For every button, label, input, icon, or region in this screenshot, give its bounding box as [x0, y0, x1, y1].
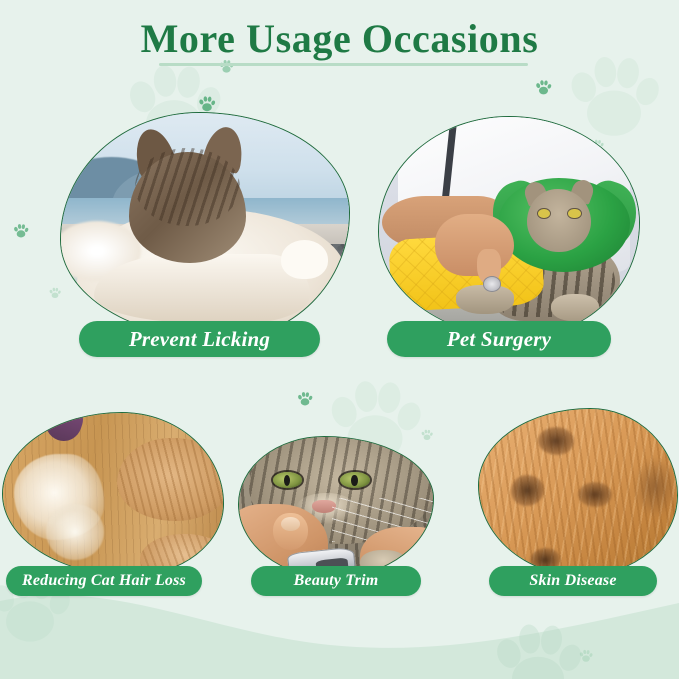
vet-hand — [435, 214, 514, 277]
skin-lesion-1 — [538, 427, 574, 454]
caption-label: Reducing Cat Hair Loss — [22, 572, 186, 590]
skin-lesion-3 — [578, 482, 612, 508]
card-skin-disease[interactable] — [478, 408, 678, 576]
paw-print-icon — [486, 612, 590, 679]
card-prevent-licking[interactable] — [60, 112, 350, 340]
caption-reducing-cat-hair-loss[interactable]: Reducing Cat Hair Loss — [6, 566, 202, 596]
cat-eye-right — [568, 209, 580, 218]
caption-skin-disease[interactable]: Skin Disease — [489, 566, 657, 596]
page-header: More Usage Occasions — [0, 16, 679, 68]
caption-label: Beauty Trim — [294, 572, 379, 590]
card-pet-surgery[interactable] — [378, 116, 640, 338]
photo-shed-cat-hair-on-wood-floor — [2, 412, 224, 576]
cat-head — [527, 189, 590, 252]
photo-cat-licking-on-beach — [60, 112, 350, 340]
skin-lesion-2 — [511, 475, 543, 506]
photo-trimming-cat-claws — [238, 436, 434, 578]
card-beauty-trim[interactable] — [238, 436, 434, 578]
cat-legs — [94, 254, 310, 323]
cat-paw — [281, 240, 328, 279]
paw-print-icon — [578, 648, 594, 664]
caption-beauty-trim[interactable]: Beauty Trim — [251, 566, 421, 596]
caption-label: Pet Surgery — [447, 327, 551, 352]
cat-pupil-right — [351, 475, 357, 487]
photo-vet-examining-cat-in-recovery-collar — [378, 116, 640, 338]
caption-label: Prevent Licking — [129, 327, 270, 352]
ginger-cat-body — [117, 438, 224, 521]
cat-tabby-stripes — [135, 148, 240, 226]
card-reducing-cat-hair-loss[interactable] — [2, 412, 224, 576]
title-underline — [159, 63, 529, 66]
photo-ginger-cat-skin-lesions — [478, 408, 678, 576]
shed-hair-clump-2 — [46, 504, 104, 560]
caption-prevent-licking[interactable]: Prevent Licking — [79, 321, 320, 357]
caption-label: Skin Disease — [529, 572, 616, 590]
paw-print-icon — [534, 78, 553, 97]
paw-print-icon — [12, 222, 30, 240]
skin-lesion-5 — [635, 458, 675, 516]
page-title-text: More Usage Occasions — [141, 16, 539, 61]
stethoscope-chestpiece — [483, 276, 501, 292]
page-title: More Usage Occasions — [137, 16, 543, 68]
caption-pet-surgery[interactable]: Pet Surgery — [387, 321, 611, 357]
infographic-canvas: More Usage Occasions — [0, 0, 679, 679]
paw-print-icon — [296, 390, 314, 408]
paw-print-icon — [197, 94, 217, 114]
cat-front-paw-right — [551, 294, 599, 321]
